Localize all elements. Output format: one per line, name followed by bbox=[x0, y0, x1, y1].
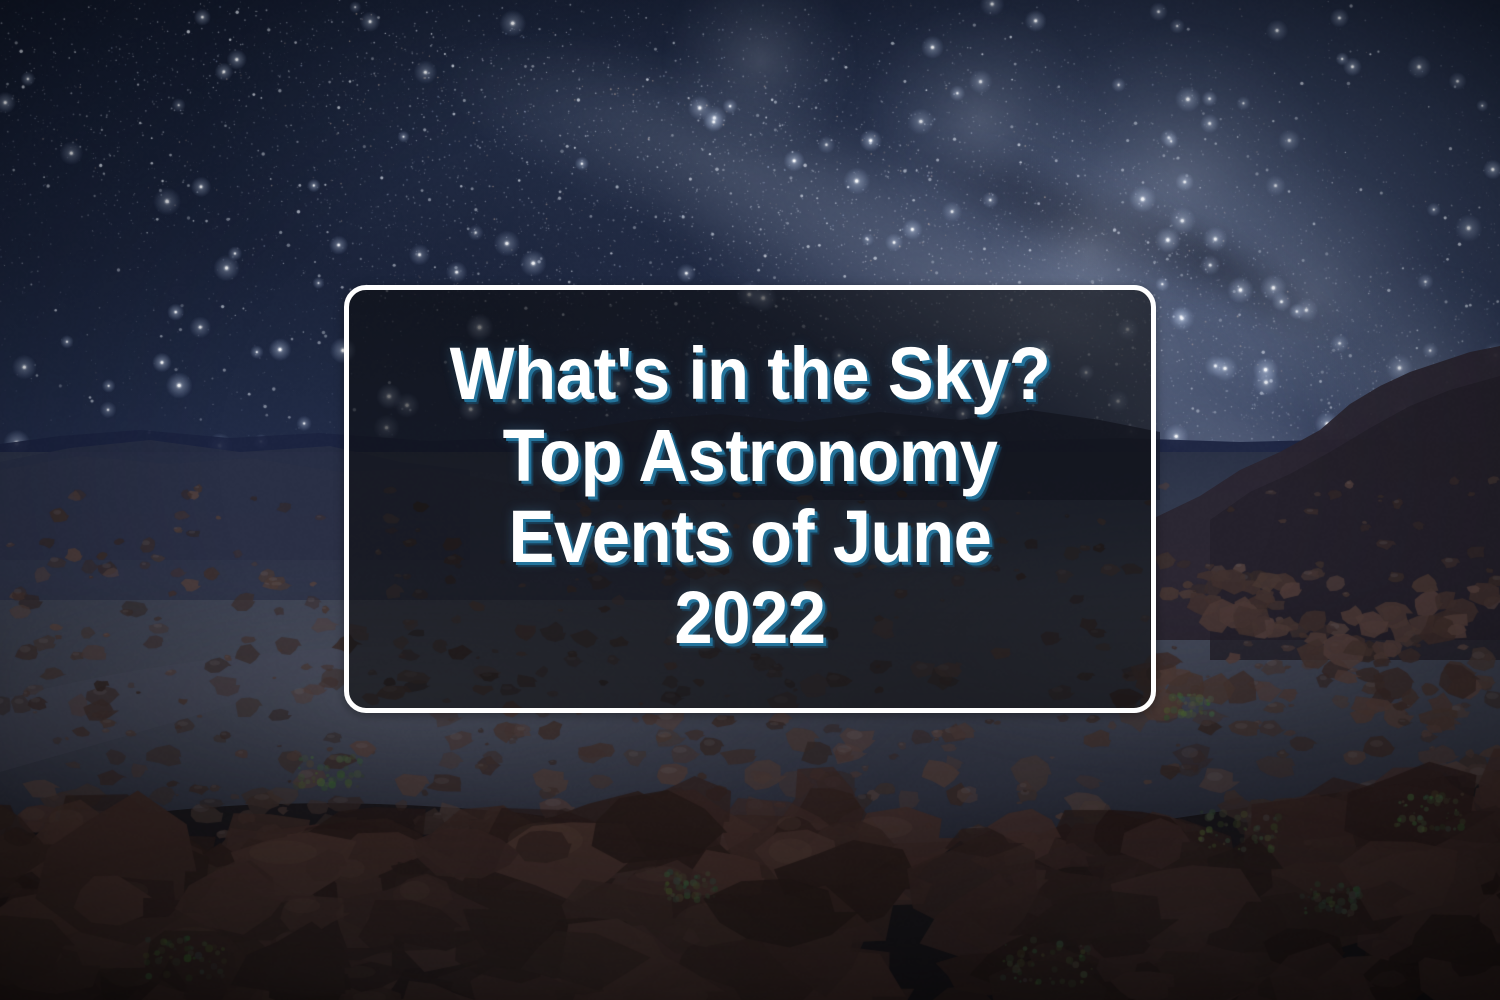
title-card: What's in the Sky? Top Astronomy Events … bbox=[344, 285, 1156, 713]
foreground-sheen bbox=[0, 760, 1500, 1000]
scene-root: What's in the Sky? Top Astronomy Events … bbox=[0, 0, 1500, 1000]
title-line-4: 2022 bbox=[398, 577, 1103, 658]
title-line-3: Events of June bbox=[398, 496, 1103, 577]
title-line-1: What's in the Sky? bbox=[398, 333, 1103, 414]
title-line-2: Top Astronomy bbox=[398, 415, 1103, 496]
